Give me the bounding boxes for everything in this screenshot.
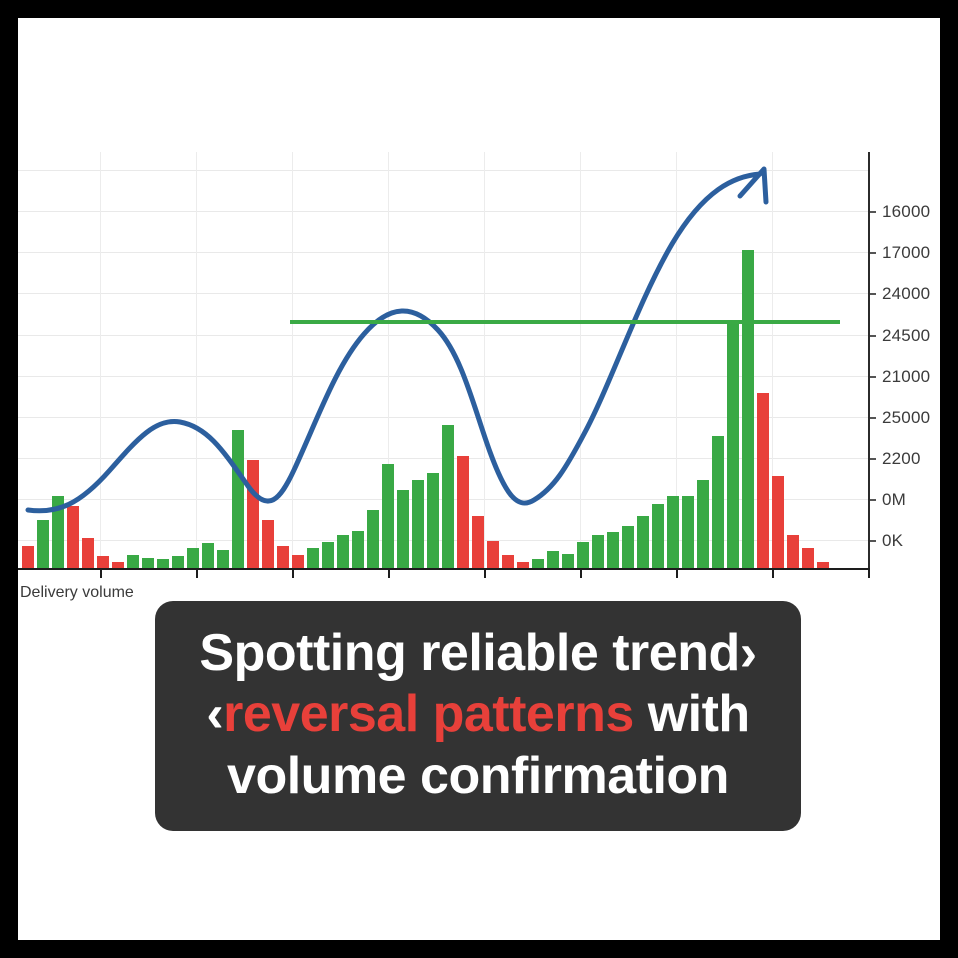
- y-axis-tick-label: 21000: [882, 368, 930, 385]
- y-axis-tick-label: 25000: [882, 409, 930, 426]
- x-axis-tick-mark: [100, 569, 102, 578]
- y-axis-line: [868, 152, 870, 570]
- y-axis-tick-label: 0K: [882, 532, 903, 549]
- y-axis-tick-mark: [869, 458, 876, 460]
- caption-banner: Spotting reliable trend› ‹reversal patte…: [155, 601, 801, 831]
- y-axis-tick-mark: [869, 252, 876, 254]
- y-axis-tick-mark: [869, 211, 876, 213]
- y-axis-tick-label: 16000: [882, 203, 930, 220]
- x-axis-tick-mark: [676, 569, 678, 578]
- x-axis-tick-mark: [868, 569, 870, 578]
- x-axis-line: [18, 568, 870, 570]
- caption-highlight-text: reversal patterns: [223, 685, 634, 743]
- chevron-left-icon: ‹: [206, 685, 223, 743]
- y-axis-tick-mark: [869, 335, 876, 337]
- x-axis-tick-mark: [196, 569, 198, 578]
- trend-curve-line: [28, 174, 760, 511]
- x-axis-tick-mark: [484, 569, 486, 578]
- caption-line-3: volume confirmation: [173, 746, 783, 807]
- y-axis-tick-mark: [869, 499, 876, 501]
- y-axis-tick-label: 17000: [882, 244, 930, 261]
- caption-line-1-text: Spotting reliable trend: [199, 624, 739, 682]
- caption-line-1: Spotting reliable trend›: [173, 623, 783, 684]
- chevron-right-icon: ›: [740, 624, 757, 682]
- plot-area: 16000170002400024500210002500022000M0K: [18, 152, 868, 568]
- image-frame: 16000170002400024500210002500022000M0K D…: [0, 0, 958, 958]
- y-axis-tick-label: 24000: [882, 285, 930, 302]
- y-axis-tick-mark: [869, 417, 876, 419]
- x-axis-tick-mark: [772, 569, 774, 578]
- axis-caption-label: Delivery volume: [20, 584, 134, 602]
- caption-line-2-tail: with: [634, 685, 750, 743]
- x-axis-tick-mark: [292, 569, 294, 578]
- y-axis-tick-mark: [869, 540, 876, 542]
- x-axis-tick-mark: [388, 569, 390, 578]
- volume-chart: 16000170002400024500210002500022000M0K D…: [18, 152, 940, 604]
- y-axis-tick-mark: [869, 376, 876, 378]
- y-axis-tick-mark: [869, 293, 876, 295]
- white-card: 16000170002400024500210002500022000M0K D…: [18, 18, 940, 940]
- y-axis-tick-label: 24500: [882, 327, 930, 344]
- x-axis-tick-mark: [580, 569, 582, 578]
- caption-line-2: ‹reversal patterns with: [173, 684, 783, 745]
- chart-overlay: [18, 152, 868, 568]
- y-axis-tick-label: 2200: [882, 450, 921, 467]
- y-axis-tick-label: 0M: [882, 491, 906, 508]
